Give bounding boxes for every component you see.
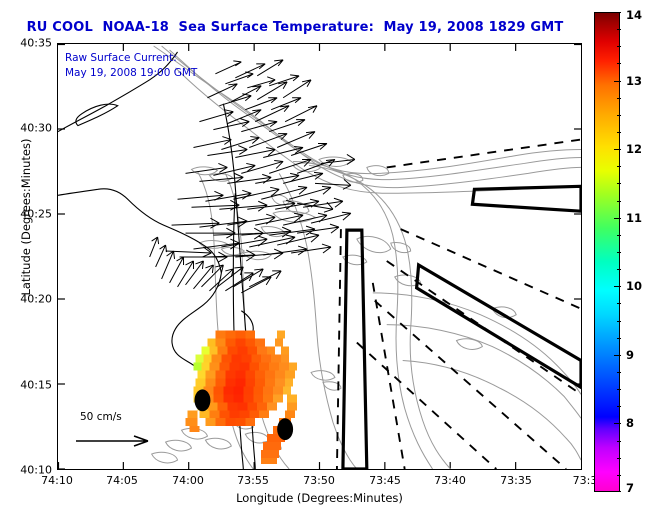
colorbar-minor-tick (617, 46, 621, 47)
colorbar-minor-tick (617, 372, 621, 373)
colorbar-label: 13 (626, 74, 642, 88)
x-tick-label: 73:55 (223, 474, 283, 487)
colorbar-minor-tick (617, 458, 621, 459)
sst-map-figure: RU COOL NOAA-18 Sea Surface Temperature:… (0, 0, 651, 519)
colorbar-minor-tick (617, 269, 621, 270)
colorbar-tick (614, 81, 621, 82)
x-tick-label: 73:45 (355, 474, 415, 487)
colorbar-minor-tick (617, 321, 621, 322)
x-axis-title: Longitude (Degrees:Minutes) (57, 491, 582, 505)
colorbar-minor-tick (617, 235, 621, 236)
colorbar-tick (614, 12, 621, 13)
radar-coverage-boxes (343, 186, 581, 469)
colorbar-minor-tick (617, 183, 621, 184)
map-canvas (58, 44, 581, 469)
colorbar-minor-tick (617, 63, 621, 64)
map-plot-area[interactable]: Raw Surface Current:May 19, 2008 19:00 G… (57, 43, 582, 470)
scale-bar-arrow-icon (70, 411, 180, 455)
colorbar-minor-tick (617, 406, 621, 407)
axis-ticks (58, 44, 581, 469)
x-tick-label: 74:10 (27, 474, 87, 487)
y-tick-label: 40:15 (4, 379, 52, 392)
surface-current-vectors (150, 60, 355, 293)
x-tick-label: 73:50 (289, 474, 349, 487)
colorbar-label: 9 (626, 348, 634, 362)
colorbar-tick (614, 286, 621, 287)
colorbar-minor-tick (617, 98, 621, 99)
x-tick-label: 74:05 (92, 474, 152, 487)
x-tick-label: 74:00 (158, 474, 218, 487)
y-tick-label: 40:35 (4, 37, 52, 50)
colorbar-minor-tick (617, 338, 621, 339)
colorbar-label: 10 (626, 279, 642, 293)
colorbar[interactable]: 14 13 12 11 10 9 8 7 Temperature (°C) (594, 12, 620, 492)
colorbar-minor-tick (617, 389, 621, 390)
colorbar-label: 7 (626, 481, 634, 495)
colorbar-tick (614, 149, 621, 150)
colorbar-label: 12 (626, 142, 642, 156)
colorbar-tick (614, 423, 621, 424)
colorbar-minor-tick (617, 441, 621, 442)
colorbar-tick (614, 355, 621, 356)
colorbar-minor-tick (617, 475, 621, 476)
x-tick-label: 73:35 (486, 474, 546, 487)
x-tick-label: 73:40 (420, 474, 480, 487)
colorbar-minor-tick (617, 115, 621, 116)
colorbar-minor-tick (617, 303, 621, 304)
radar-beam-lines (337, 140, 581, 469)
colorbar-minor-tick (617, 252, 621, 253)
colorbar-tick (614, 491, 621, 492)
colorbar-minor-tick (617, 201, 621, 202)
colorbar-tick (614, 218, 621, 219)
colorbar-minor-tick (617, 166, 621, 167)
colorbar-label: 14 (626, 8, 642, 22)
colorbar-minor-tick (617, 132, 621, 133)
figure-title: RU COOL NOAA-18 Sea Surface Temperature:… (0, 20, 590, 35)
colorbar-minor-tick (617, 29, 621, 30)
y-axis-title: Latitude (Degrees:Minutes) (19, 107, 33, 327)
station-marker (194, 389, 210, 411)
station-marker (277, 418, 293, 440)
colorbar-label: 8 (626, 416, 634, 430)
scale-bar: 50 cm/s (70, 411, 180, 455)
colorbar-label: 11 (626, 211, 642, 225)
